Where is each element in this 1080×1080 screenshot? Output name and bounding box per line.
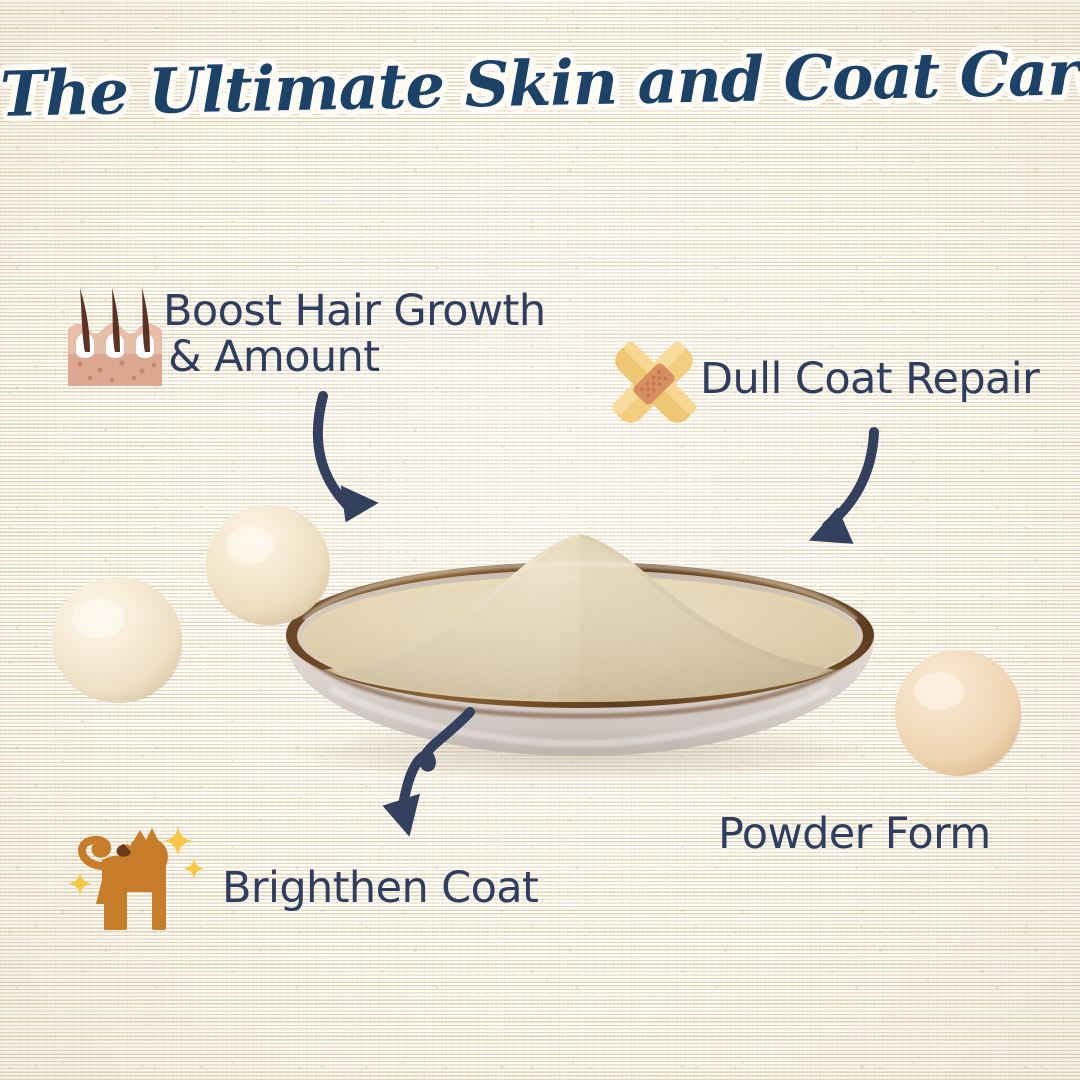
poster-canvas: The Ultimate Skin and Coat Care bbox=[0, 0, 1080, 1080]
arrow-layer bbox=[0, 0, 1080, 1080]
feature-label-dull-coat-repair: Dull Coat Repair bbox=[700, 356, 1039, 402]
arrow-brighten-coat bbox=[404, 712, 470, 800]
feature-label-hair-growth-line1: Boost Hair Growth bbox=[163, 288, 545, 334]
feature-label-hair-growth-line2: & Amount bbox=[163, 334, 545, 380]
feature-label-hair-growth: Boost Hair Growth & Amount bbox=[163, 288, 545, 381]
feature-label-brighten-coat: Brighthen Coat bbox=[222, 865, 538, 911]
feature-label-powder-form: Powder Form bbox=[718, 811, 991, 857]
